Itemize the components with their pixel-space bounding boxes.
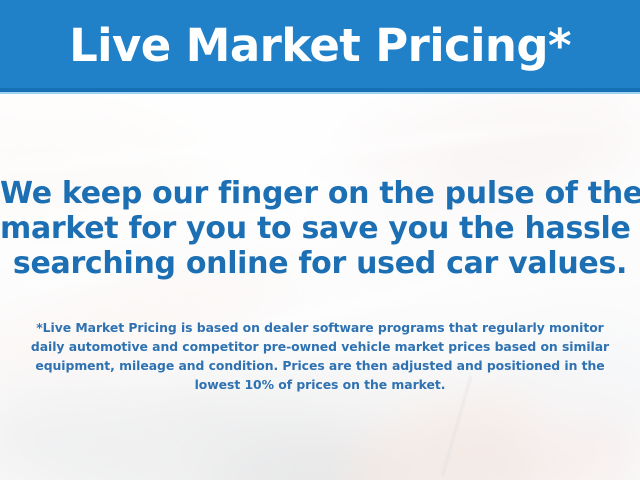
page-title: Live Market Pricing* [69, 23, 571, 68]
header-bar-bottom-highlight [0, 92, 640, 94]
disclaimer-line-3: equipment, mileage and condition. Prices… [24, 356, 616, 375]
headline-text: We keep our finger on the pulse of the m… [0, 176, 640, 281]
live-market-pricing-banner: Live Market Pricing* We keep our finger … [0, 0, 640, 480]
disclaimer-line-4: lowest 10% of prices on the market. [24, 375, 616, 394]
headline-line-3: searching online for used car values. [0, 246, 640, 281]
disclaimer-line-1: *Live Market Pricing is based on dealer … [24, 318, 616, 337]
headline-line-1: We keep our finger on the pulse of the [0, 176, 640, 211]
header-bar: Live Market Pricing* [0, 0, 640, 88]
disclaimer-text: *Live Market Pricing is based on dealer … [24, 318, 616, 394]
headline-line-2: market for you to save you the hassle of [0, 211, 640, 246]
disclaimer-line-2: daily automotive and competitor pre-owne… [24, 337, 616, 356]
